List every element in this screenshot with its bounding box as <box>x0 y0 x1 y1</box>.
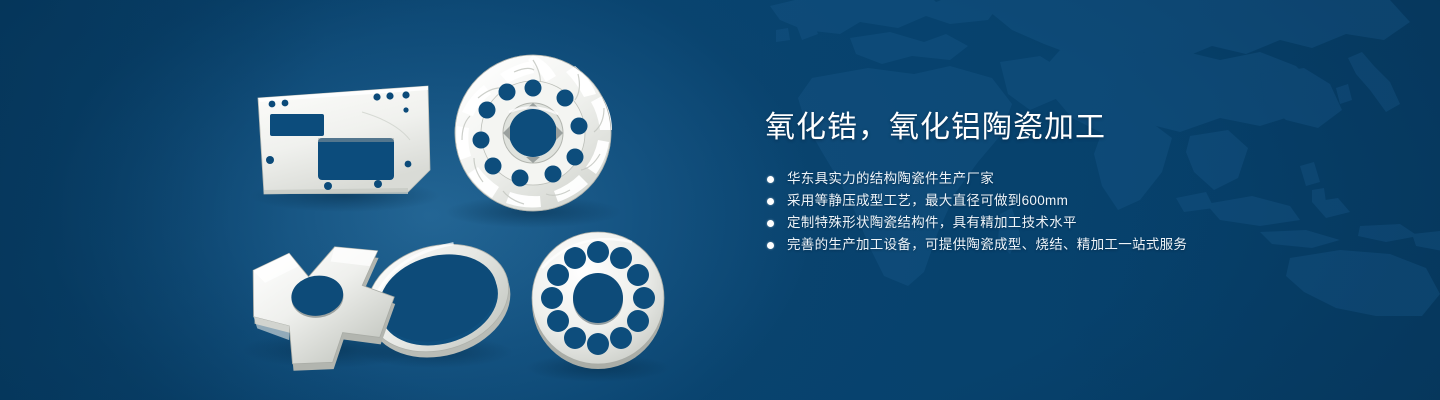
feature-list: 华东具实力的结构陶瓷件生产厂家 采用等静压成型工艺，最大直径可做到600mm 定… <box>765 168 1385 256</box>
ceramic-products-image <box>0 0 720 400</box>
banner-headline: 氧化锆，氧化铝陶瓷加工 <box>765 108 1385 148</box>
ceramic-perforated-disc-shape <box>532 232 664 369</box>
feature-text-1: 华东具实力的结构陶瓷件生产厂家 <box>787 168 994 190</box>
bullet-dot-icon <box>767 242 774 249</box>
feature-item-3: 定制特殊形状陶瓷结构件，具有精加工技术水平 <box>767 212 1385 234</box>
promo-banner: 氧化锆，氧化铝陶瓷加工 华东具实力的结构陶瓷件生产厂家 采用等静压成型工艺，最大… <box>0 0 1440 400</box>
feature-text-2: 采用等静压成型工艺，最大直径可做到600mm <box>787 190 1068 212</box>
banner-copy: 氧化锆，氧化铝陶瓷加工 华东具实力的结构陶瓷件生产厂家 采用等静压成型工艺，最大… <box>765 108 1385 256</box>
feature-item-2: 采用等静压成型工艺，最大直径可做到600mm <box>767 190 1385 212</box>
ceramic-machined-plate-shape <box>258 86 430 194</box>
ceramic-impeller-shape <box>455 55 612 211</box>
bullet-dot-icon <box>767 198 774 205</box>
feature-item-1: 华东具实力的结构陶瓷件生产厂家 <box>767 168 1385 190</box>
bullet-dot-icon <box>767 176 774 183</box>
feature-text-4: 完善的生产加工设备，可提供陶瓷成型、烧结、精加工一站式服务 <box>787 234 1187 256</box>
feature-text-3: 定制特殊形状陶瓷结构件，具有精加工技术水平 <box>787 212 1077 234</box>
bullet-dot-icon <box>767 220 774 227</box>
feature-item-4: 完善的生产加工设备，可提供陶瓷成型、烧结、精加工一站式服务 <box>767 234 1385 256</box>
